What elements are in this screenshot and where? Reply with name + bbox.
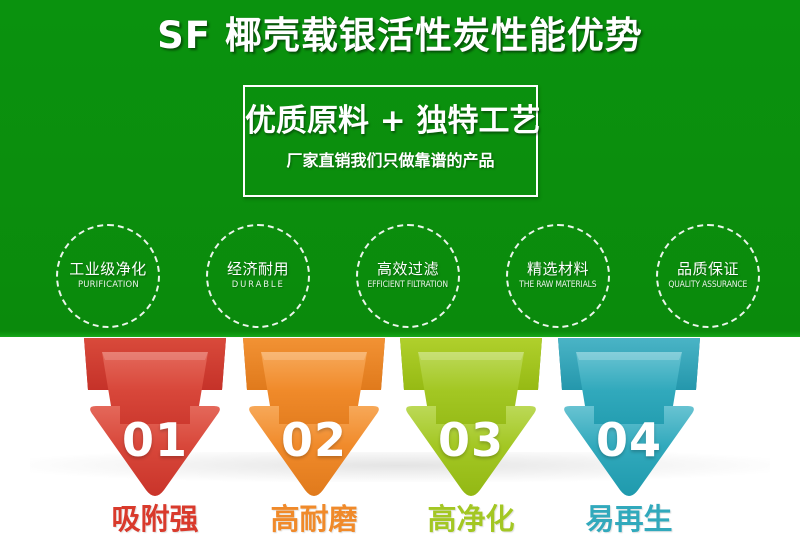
feature-circle-3-cn: 高效过滤 <box>377 260 439 279</box>
slogan-box: 优质原料 + 独特工艺 厂家直销我们只做靠谱的产品 <box>243 85 538 197</box>
page-title: SF 椰壳载银活性炭性能优势 <box>0 14 800 58</box>
feature-circle-4-cn: 精选材料 <box>527 260 589 279</box>
feature-circle-1: 工业级净化 PURIFICATION <box>56 224 160 328</box>
step-arrow-4-number: 04 <box>558 414 700 466</box>
step-arrow-4: 04 <box>558 338 700 503</box>
feature-circle-3: 高效过滤 EFFICIENT FILTRATION <box>356 224 460 328</box>
step-arrow-3-number: 03 <box>400 414 542 466</box>
step-arrow-2: 02 <box>243 338 385 503</box>
step-label-3: 高净化 <box>391 500 551 538</box>
feature-circle-5-cn: 品质保证 <box>677 260 739 279</box>
feature-circle-1-en: PURIFICATION <box>78 279 139 292</box>
feature-circle-2: 经济耐用 DURABLE <box>206 224 310 328</box>
feature-circle-2-cn: 经济耐用 <box>227 260 289 279</box>
step-arrow-3: 03 <box>400 338 542 503</box>
slogan-sub-text: 厂家直销我们只做靠谱的产品 <box>245 149 536 173</box>
step-label-4: 易再生 <box>549 500 709 538</box>
feature-circle-4-en: THE RAW MATERIALS <box>519 279 596 292</box>
feature-circle-3-en: EFFICIENT FILTRATION <box>368 279 448 292</box>
step-arrow-1: 01 <box>84 338 226 503</box>
feature-circle-1-cn: 工业级净化 <box>69 260 147 279</box>
step-arrow-1-number: 01 <box>84 414 226 466</box>
step-label-2: 高耐磨 <box>234 500 394 538</box>
feature-circle-5: 品质保证 QUALITY ASSURANCE <box>656 224 760 328</box>
step-arrow-2-number: 02 <box>243 414 385 466</box>
slogan-main-text: 优质原料 + 独特工艺 <box>245 101 536 141</box>
feature-circle-row: 工业级净化 PURIFICATION 经济耐用 DURABLE 高效过滤 EFF… <box>0 224 800 328</box>
feature-circle-4: 精选材料 THE RAW MATERIALS <box>506 224 610 328</box>
feature-circle-2-en: DURABLE <box>231 279 284 292</box>
feature-circle-5-en: QUALITY ASSURANCE <box>669 279 748 292</box>
step-label-1: 吸附强 <box>75 500 235 538</box>
poster-canvas: SF 椰壳载银活性炭性能优势 优质原料 + 独特工艺 厂家直销我们只做靠谱的产品… <box>0 0 800 550</box>
